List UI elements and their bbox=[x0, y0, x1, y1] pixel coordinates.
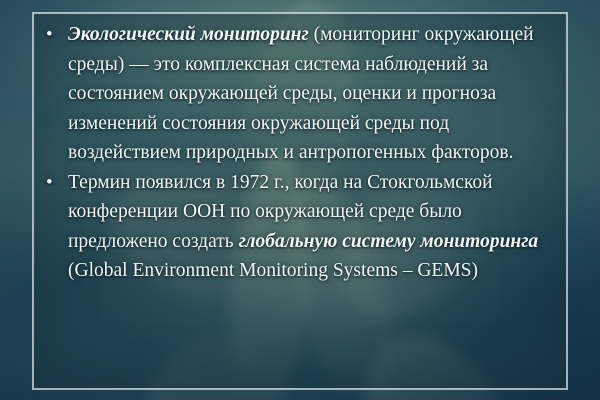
content-frame: Экологический мониторинг (мониторинг окр… bbox=[32, 12, 568, 390]
slide-body-text: Экологический мониторинг (мониторинг окр… bbox=[42, 20, 556, 286]
bullet-text: (Global Environment Monitoring Systems –… bbox=[68, 260, 478, 281]
emphasis-term: глобальную систему мониторинга bbox=[239, 231, 539, 252]
emphasis-term: Экологический мониторинг bbox=[68, 24, 309, 45]
list-item: Термин появился в 1972 г., когда на Сток… bbox=[42, 168, 556, 286]
bullet-list: Экологический мониторинг (мониторинг окр… bbox=[42, 20, 556, 286]
list-item: Экологический мониторинг (мониторинг окр… bbox=[42, 20, 556, 168]
slide-canvas: Экологический мониторинг (мониторинг окр… bbox=[0, 0, 600, 400]
